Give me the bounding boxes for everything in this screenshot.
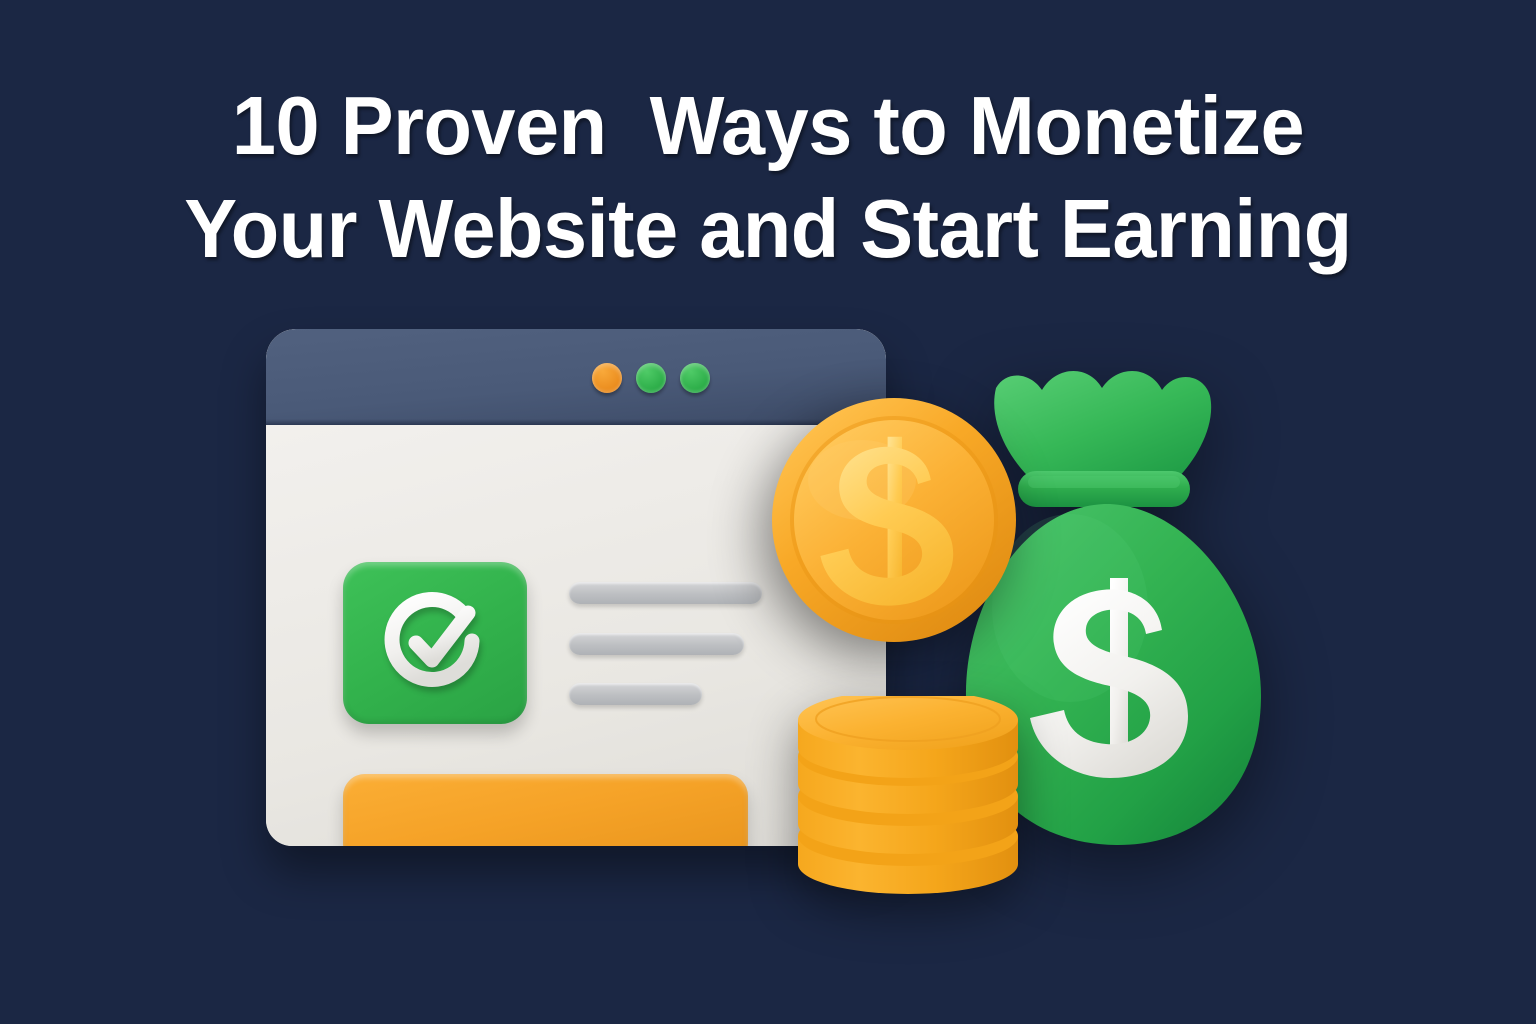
dollar-coin — [770, 396, 1018, 644]
window-green-dot-1-icon — [636, 363, 666, 393]
check-circle-icon — [380, 588, 490, 698]
placeholder-line-3 — [569, 683, 702, 705]
headline-line-2: Your Website and Start Earning — [35, 177, 1502, 280]
headline-line-1: 10 Proven Ways to Monetize — [35, 74, 1502, 177]
window-green-dot-2-icon — [680, 363, 710, 393]
placeholder-line-1 — [569, 582, 762, 604]
check-tile — [343, 562, 527, 724]
cta-bar-label — [343, 774, 344, 775]
page-title: 10 Proven Ways to Monetize Your Website … — [0, 74, 1536, 280]
coin-stack — [790, 696, 1026, 900]
cta-bar[interactable] — [343, 774, 748, 846]
poster-canvas: 10 Proven Ways to Monetize Your Website … — [0, 0, 1536, 1024]
placeholder-line-2 — [569, 633, 744, 655]
window-orange-dot-icon — [592, 363, 622, 393]
